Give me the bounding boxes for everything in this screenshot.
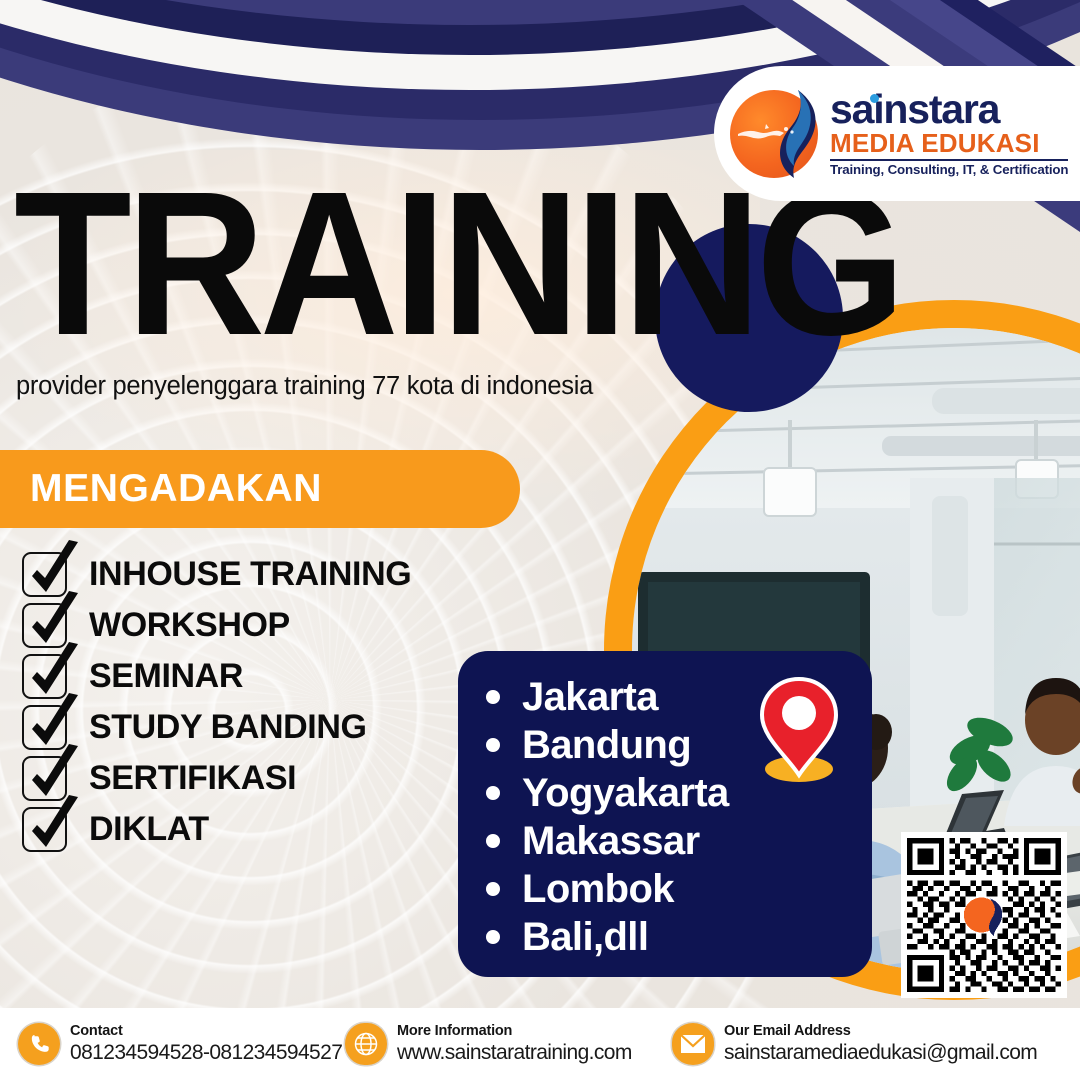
footer-contact-text: Contact 081234594528-081234594527 <box>70 1023 342 1065</box>
list-item-label: STUDY BANDING <box>89 708 367 747</box>
footer-contact-title: Contact <box>70 1023 342 1040</box>
globe-icon <box>345 1023 387 1065</box>
poster-canvas: TRAINING provider penyelenggara training… <box>0 0 1080 1080</box>
city-label: Bandung <box>522 725 691 765</box>
footer-contact-value: 081234594528-081234594527 <box>70 1041 342 1065</box>
bullet-icon <box>486 738 500 752</box>
city-label: Yogyakarta <box>522 773 729 813</box>
location-pin-icon <box>756 675 842 783</box>
mengadakan-banner: MENGADAKAN <box>0 450 520 528</box>
list-item: Bali,dll <box>486 913 872 961</box>
footer-email-text: Our Email Address sainstaramediaedukasi@… <box>724 1023 1037 1065</box>
list-item-label: WORKSHOP <box>89 606 290 645</box>
services-checklist: INHOUSE TRAINING WORKSHOP SEMINAR STUDY … <box>22 549 411 855</box>
brand-name: sainstara <box>830 90 1068 129</box>
footer-email-value: sainstaramediaedukasi@gmail.com <box>724 1041 1037 1065</box>
phone-icon <box>18 1023 60 1065</box>
bullet-icon <box>486 834 500 848</box>
footer-website-item[interactable]: More Information www.sainstaratraining.c… <box>345 1023 632 1065</box>
brand-name-text: sainstara <box>830 86 999 132</box>
list-item-label: DIKLAT <box>89 810 209 849</box>
list-item-label: SEMINAR <box>89 657 243 696</box>
brand-subtitle: MEDIA EDUKASI <box>830 130 1068 157</box>
page-title: TRAINING <box>14 176 900 352</box>
bullet-icon <box>486 930 500 944</box>
city-label: Makassar <box>522 821 700 861</box>
city-label: Bali,dll <box>522 917 648 957</box>
footer-website-value: www.sainstaratraining.com <box>397 1041 632 1065</box>
checkbox-diklat[interactable] <box>22 807 67 852</box>
list-item: Makassar <box>486 817 872 865</box>
list-item-label: INHOUSE TRAINING <box>89 555 411 594</box>
envelope-icon <box>672 1023 714 1065</box>
page-subtitle: provider penyelenggara training 77 kota … <box>16 372 593 401</box>
footer-contact-bar: Contact 081234594528-081234594527 More I… <box>0 1008 1080 1080</box>
footer-website-title: More Information <box>397 1023 632 1040</box>
footer-website-text: More Information www.sainstaratraining.c… <box>397 1023 632 1065</box>
mengadakan-label: MENGADAKAN <box>30 467 322 511</box>
bullet-icon <box>486 786 500 800</box>
city-label: Lombok <box>522 869 674 909</box>
brand-logo: sainstara MEDIA EDUKASI Training, Consul… <box>714 66 1080 201</box>
list-item[interactable]: DIKLAT <box>22 804 411 855</box>
brand-tagline: Training, Consulting, IT, & Certificatio… <box>830 162 1068 177</box>
brand-divider <box>830 159 1068 161</box>
footer-contact-item[interactable]: Contact 081234594528-081234594527 <box>18 1023 342 1065</box>
list-item-label: SERTIFIKASI <box>89 759 296 798</box>
qr-code-icon[interactable] <box>901 832 1067 998</box>
list-item: Lombok <box>486 865 872 913</box>
city-label: Jakarta <box>522 677 658 717</box>
cities-panel: Jakarta Bandung Yogyakarta Makassar Lomb… <box>458 651 872 977</box>
sainstara-flame-icon <box>726 86 822 182</box>
bullet-icon <box>486 690 500 704</box>
footer-email-title: Our Email Address <box>724 1023 1037 1040</box>
footer-email-item[interactable]: Our Email Address sainstaramediaedukasi@… <box>672 1023 1037 1065</box>
bullet-icon <box>486 882 500 896</box>
